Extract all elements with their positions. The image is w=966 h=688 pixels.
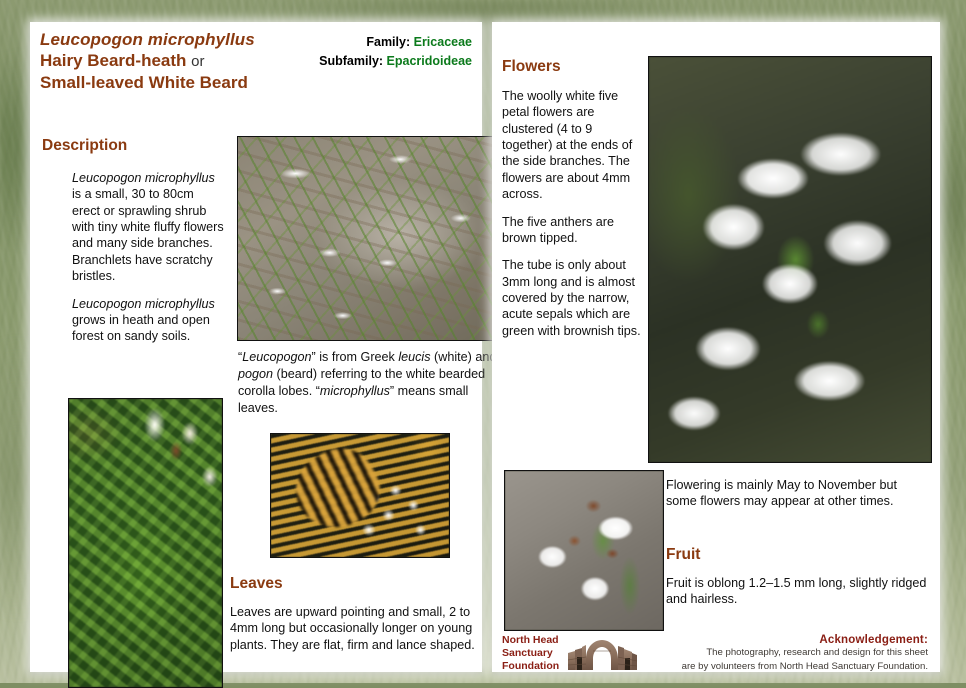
acknowledgement: Acknowledgement: The photography, resear…: [682, 634, 928, 674]
description-body: Leucopogon microphyllus is a small, 30 t…: [72, 170, 224, 345]
page-title: Leucopogon microphyllus: [40, 30, 308, 50]
left-panel: Leucopogon microphyllus Hairy Beard-heat…: [30, 22, 482, 672]
sheet-header: Leucopogon microphyllus Hairy Beard-heat…: [40, 30, 472, 94]
flowers-paragraph-3: The tube is only about 3mm long and is a…: [502, 257, 642, 339]
flowers-paragraph-2: The five anthers are brown tipped.: [502, 214, 642, 247]
description-paragraph-2: Leucopogon microphyllus grows in heath a…: [72, 296, 224, 345]
flowering-season-text: Flowering is mainly May to November but …: [666, 477, 928, 510]
family-value: Ericaceae: [414, 35, 472, 49]
etymology-text: “Leucopogon” is from Greek leucis (white…: [238, 349, 500, 417]
acknowledgement-line-1: The photography, research and design for…: [682, 647, 928, 660]
family-line: Family: Ericaceae: [312, 33, 472, 52]
subfamily-label: Subfamily:: [319, 54, 383, 68]
description-heading: Description: [42, 137, 127, 155]
flowers-paragraph-1: The woolly white five petal flowers are …: [502, 88, 642, 203]
leaf-closeup-photo: [68, 398, 223, 688]
flower-bud-photo: [504, 470, 664, 631]
common-name-secondary: Small-leaved White Beard: [40, 73, 248, 92]
foundation-logo: North Head Sanctuary Foundation: [502, 634, 638, 672]
bee-on-flowers-photo: [270, 433, 450, 558]
stone-arch-icon: [566, 637, 638, 670]
description-paragraph-1: Leucopogon microphyllus is a small, 30 t…: [72, 170, 224, 285]
leaves-text: Leaves are upward pointing and small, 2 …: [230, 604, 498, 653]
taxonomy-block: Family: Ericaceae Subfamily: Epacridoide…: [312, 30, 472, 72]
subfamily-line: Subfamily: Epacridoideae: [312, 52, 472, 71]
fruit-heading: Fruit: [666, 546, 700, 564]
subfamily-value: Epacridoideae: [387, 54, 472, 68]
habitat-photo: [237, 136, 501, 341]
common-name-joiner: or: [191, 53, 204, 70]
title-block: Leucopogon microphyllus Hairy Beard-heat…: [40, 30, 308, 94]
acknowledgement-line-2: are by volunteers from North Head Sanctu…: [682, 661, 928, 674]
fruit-text: Fruit is oblong 1.2–1.5 mm long, slightl…: [666, 575, 928, 608]
right-panel: Flowers The woolly white five petal flow…: [492, 22, 940, 672]
foundation-logo-text: North Head Sanctuary Foundation: [502, 634, 559, 672]
family-label: Family:: [366, 35, 410, 49]
flowers-heading: Flowers: [502, 58, 561, 76]
acknowledgement-title: Acknowledgement:: [682, 634, 928, 646]
common-names: Hairy Beard-heath or Small-leaved White …: [40, 50, 308, 94]
common-name-primary: Hairy Beard-heath: [40, 51, 186, 70]
flower-closeup-photo: [648, 56, 932, 463]
leaves-heading: Leaves: [230, 575, 283, 593]
footer: North Head Sanctuary Foundation: [502, 634, 930, 668]
flowers-body: The woolly white five petal flowers are …: [502, 88, 642, 339]
